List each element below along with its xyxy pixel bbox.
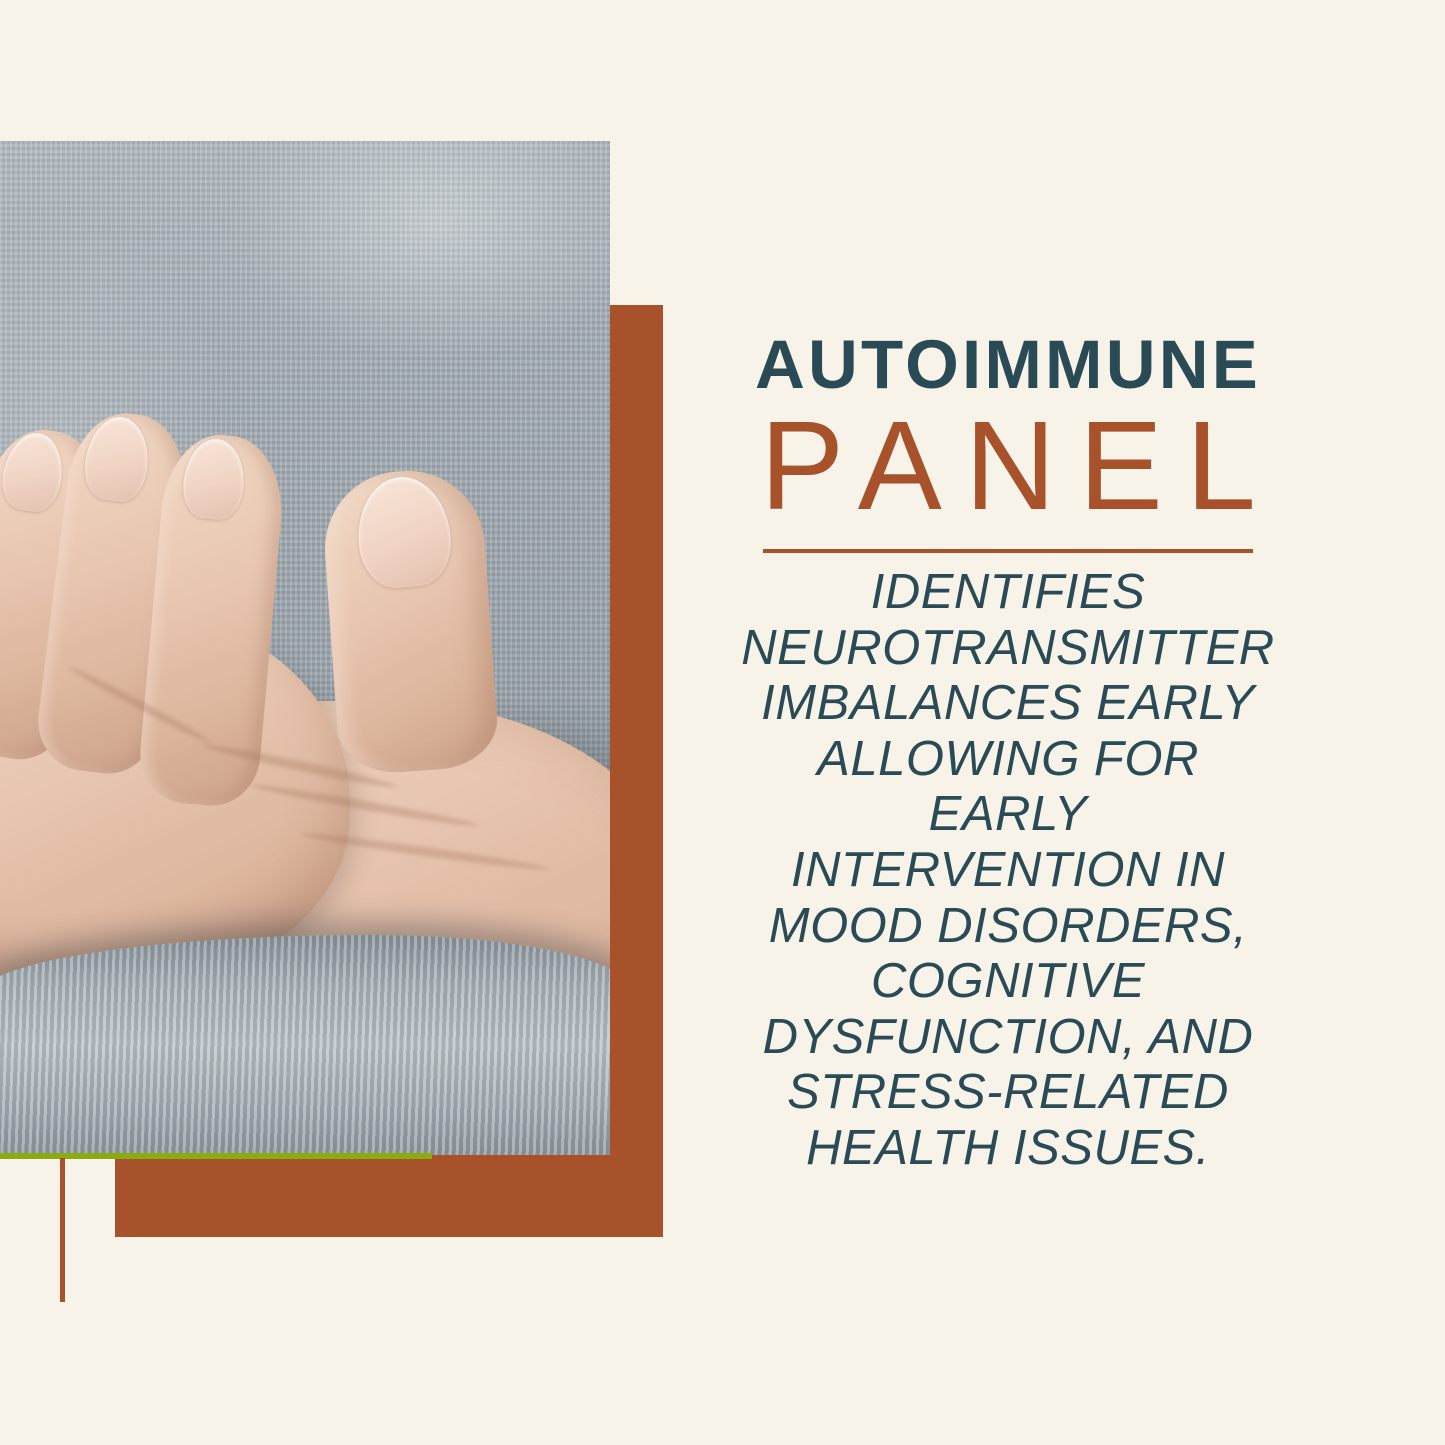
description-paragraph: IDENTIFIES NEUROTRANSMITTER IMBALANCES E… [678,565,1338,1177]
title-divider [763,549,1253,553]
rust-vertical-rule [60,1158,65,1302]
text-column: AUTOIMMUNE PANEL IDENTIFIES NEUROTRANSMI… [678,330,1338,1177]
hands-photo [0,141,610,1155]
page-title-secondary: PANEL [678,403,1338,529]
poster-canvas: AUTOIMMUNE PANEL IDENTIFIES NEUROTRANSMI… [0,0,1445,1445]
sweater-cuff [0,935,610,1155]
page-title-primary: AUTOIMMUNE [678,330,1338,399]
